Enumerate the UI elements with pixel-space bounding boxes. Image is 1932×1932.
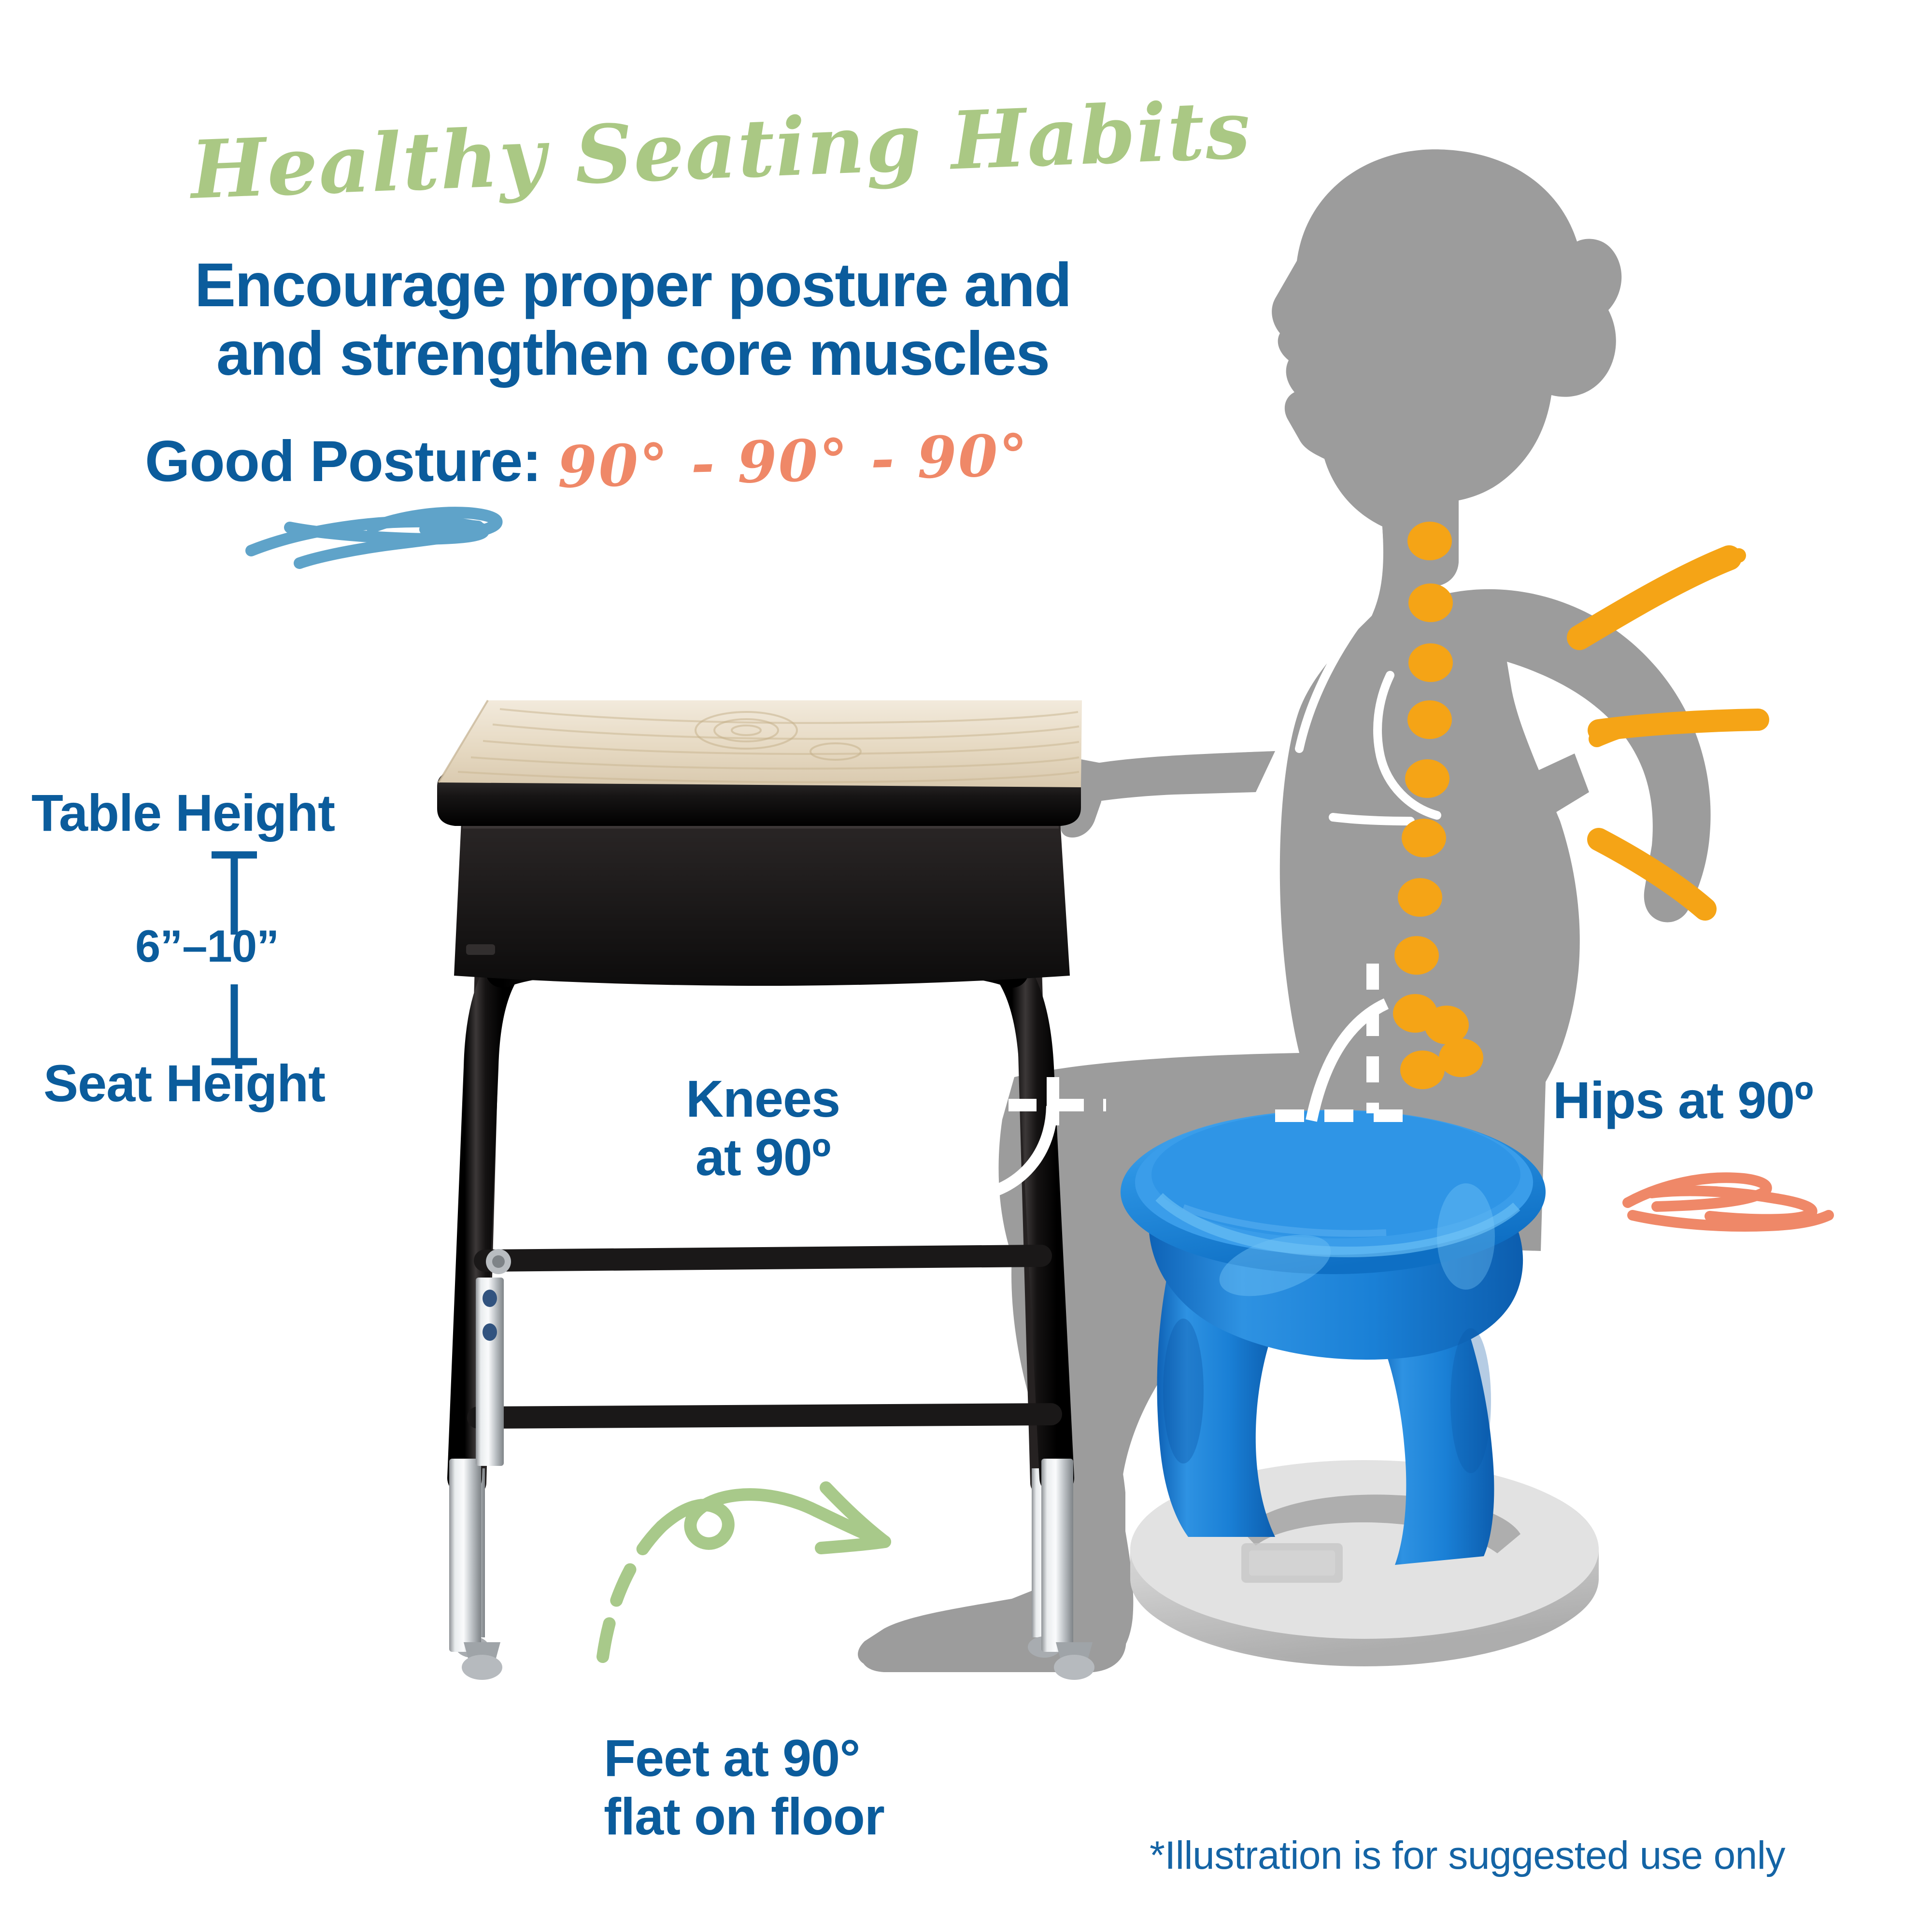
- illustration-artwork: [0, 0, 1932, 1932]
- active-wobble-stool: [1121, 1110, 1599, 1666]
- school-desk: [437, 700, 1094, 1680]
- infographic-canvas: Healthy Seating Habits Encourage proper …: [0, 0, 1932, 1932]
